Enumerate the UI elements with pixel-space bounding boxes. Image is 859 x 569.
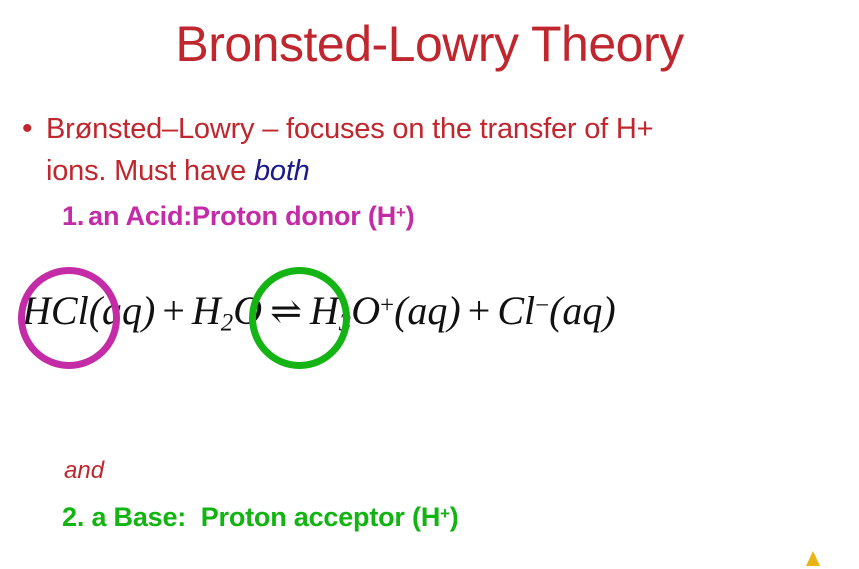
base-definition-line: 2. a Base: Proton acceptor (H+)	[62, 502, 459, 533]
equation-product-hydronium-o: O	[351, 288, 380, 333]
equation-reactant-water-h: H	[192, 288, 221, 333]
bullet-emphasis-both: both	[254, 155, 310, 187]
bullet-paragraph: • Brønsted–Lowry – focuses on the transf…	[20, 108, 840, 192]
corner-triangle-icon	[806, 551, 820, 566]
bullet-line-2-prefix: ions. Must have	[46, 155, 254, 187]
equation-product-chloride-charge: −	[535, 292, 549, 319]
equation-product-hydronium-state: (aq)	[394, 288, 461, 333]
equation-plus-1: +	[155, 288, 192, 333]
slide-canvas: Bronsted-Lowry Theory • Brønsted–Lowry –…	[0, 0, 859, 569]
equation-product-hydronium-charge: +	[380, 292, 394, 319]
base-number: 2.	[62, 502, 84, 532]
acid-definition-line: 1.an Acid:Proton donor (H+)	[62, 201, 414, 232]
equation-product-chloride-state: (aq)	[549, 288, 616, 333]
connector-and-text: and	[64, 457, 104, 485]
equation-reactant-water-subscript: 2	[221, 309, 233, 336]
acid-number: 1.	[62, 201, 84, 231]
page-title: Bronsted-Lowry Theory	[0, 18, 859, 71]
base-definition-text: Proton acceptor (H	[201, 502, 440, 532]
acid-label: an Acid:	[88, 201, 192, 231]
equation-product-chloride: Cl	[497, 288, 535, 333]
bullet-line-1-text: Brønsted–Lowry – focuses on the transfer…	[46, 108, 840, 150]
highlight-circle-water	[249, 267, 350, 369]
highlight-circle-hcl	[18, 267, 120, 369]
base-charge-superscript: +	[440, 504, 450, 523]
acid-definition-text: Proton donor (H	[192, 201, 396, 231]
base-definition-close-paren: )	[450, 502, 459, 532]
bullet-line-2-text: ions. Must have both	[46, 150, 840, 192]
bullet-line-2: ions. Must have both	[20, 150, 840, 192]
acid-charge-superscript: +	[396, 203, 406, 222]
acid-definition-close-paren: )	[406, 201, 415, 231]
bullet-marker-icon: •	[20, 108, 46, 150]
bullet-line-1: • Brønsted–Lowry – focuses on the transf…	[20, 108, 840, 150]
equation-plus-2: +	[461, 288, 498, 333]
base-label: a Base:	[91, 502, 186, 532]
